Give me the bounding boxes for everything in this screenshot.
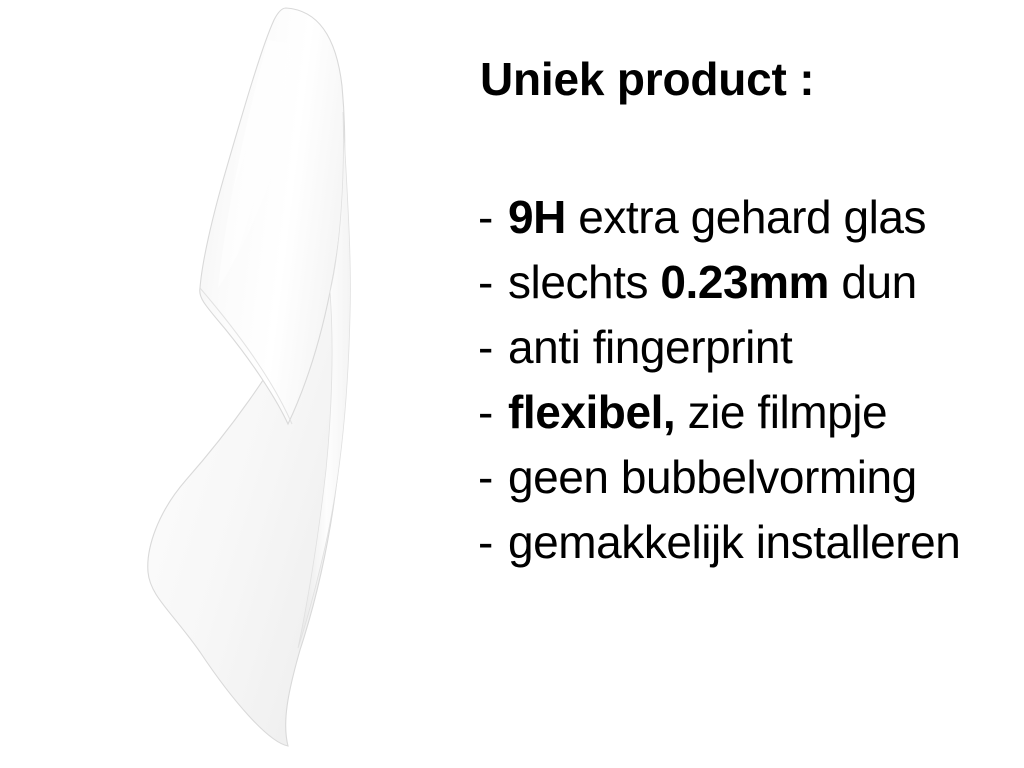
bullet-dash: - <box>478 510 508 575</box>
glass-lower-lobe <box>148 293 346 746</box>
bullet-dash: - <box>478 380 508 445</box>
product-image <box>0 0 460 768</box>
text-panel: Uniek product : -9H extra gehard glas -s… <box>470 0 1024 768</box>
list-item: -geen bubbelvorming <box>470 445 960 510</box>
page-title: Uniek product : <box>480 52 814 106</box>
feature-lead: anti fingerprint <box>508 321 792 373</box>
feature-highlight: 0.23mm <box>660 256 829 308</box>
feature-lead: geen bubbelvorming <box>508 451 917 503</box>
bullet-dash: - <box>478 185 508 250</box>
slide-canvas: Uniek product : -9H extra gehard glas -s… <box>0 0 1024 768</box>
feature-lead: gemakkelijk installeren <box>508 516 960 568</box>
list-item: -slechts 0.23mm dun <box>470 250 960 315</box>
feature-list: -9H extra gehard glas -slechts 0.23mm du… <box>470 185 960 575</box>
tempered-glass-illustration <box>0 0 460 768</box>
feature-highlight: flexibel, <box>508 386 675 438</box>
list-item: -anti fingerprint <box>470 315 960 380</box>
feature-lead: slechts <box>508 256 660 308</box>
bullet-dash: - <box>478 445 508 510</box>
bullet-dash: - <box>478 315 508 380</box>
feature-highlight: 9H <box>508 191 566 243</box>
list-item: -gemakkelijk installeren <box>470 510 960 575</box>
list-item: -flexibel, zie filmpje <box>470 380 960 445</box>
bullet-dash: - <box>478 250 508 315</box>
feature-tail: zie filmpje <box>675 386 887 438</box>
feature-tail: extra gehard glas <box>566 191 926 243</box>
feature-tail: dun <box>829 256 917 308</box>
list-item: -9H extra gehard glas <box>470 185 960 250</box>
